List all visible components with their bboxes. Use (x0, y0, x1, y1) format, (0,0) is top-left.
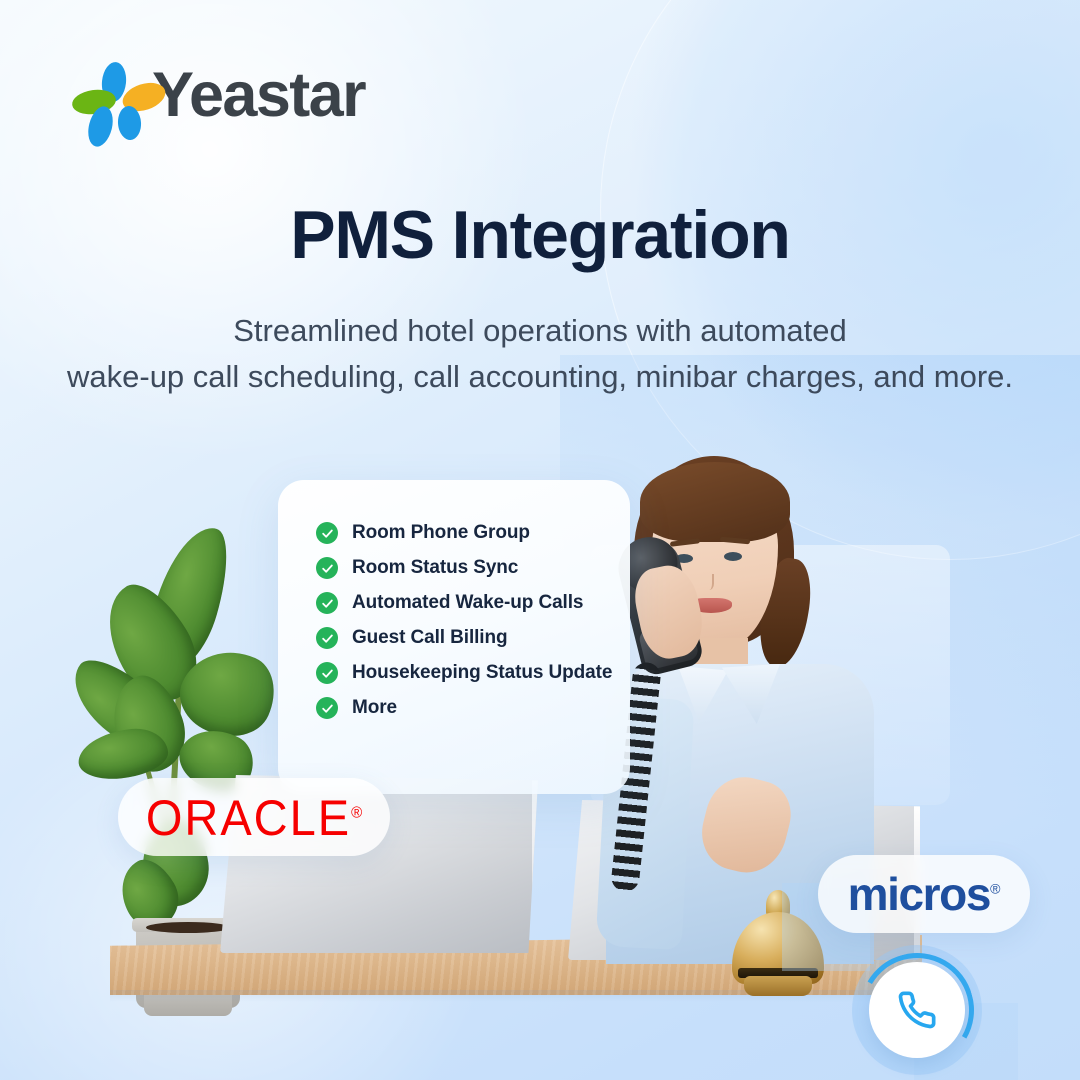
registered-mark: ® (351, 803, 362, 821)
person-eye (724, 552, 742, 561)
feature-card: Room Phone Group Room Status Sync (278, 480, 630, 794)
check-circle-icon (316, 697, 338, 719)
registered-mark: ® (990, 881, 1000, 897)
poster-canvas: Yeastar PMS Integration Streamlined hote… (0, 0, 1080, 1080)
feature-label: Guest Call Billing (352, 627, 508, 649)
person-nose (702, 574, 714, 590)
micros-wordmark: micros® (848, 871, 1001, 917)
yeastar-logo[interactable]: Yeastar (76, 62, 365, 128)
logo-wordmark: Yeastar (152, 64, 365, 127)
list-item[interactable]: Housekeeping Status Update (316, 662, 630, 684)
feature-label: Automated Wake-up Calls (352, 592, 583, 614)
plant-leaf (76, 725, 171, 782)
check-circle-icon (316, 522, 338, 544)
check-circle-icon (316, 662, 338, 684)
pot-soil (146, 922, 230, 933)
partner-badge-oracle[interactable]: ORACLE® (118, 778, 390, 856)
oracle-wordmark: ORACLE® (146, 792, 362, 842)
yeastar-flower-icon (76, 62, 138, 128)
phone-badge[interactable] (852, 945, 982, 1075)
oracle-label: ORACLE (146, 789, 351, 845)
feature-label: More (352, 697, 397, 719)
check-circle-icon (316, 592, 338, 614)
check-circle-icon (316, 557, 338, 579)
feature-label: Housekeeping Status Update (352, 662, 612, 684)
list-item[interactable]: Guest Call Billing (316, 627, 630, 649)
subtitle-line-1: Streamlined hotel operations with automa… (0, 308, 1080, 354)
list-item[interactable]: Room Phone Group (316, 522, 630, 544)
feature-label: Room Phone Group (352, 522, 530, 544)
partner-badge-micros[interactable]: micros® (818, 855, 1030, 933)
page-subtitle: Streamlined hotel operations with automa… (0, 308, 1080, 400)
check-circle-icon (316, 627, 338, 649)
list-item[interactable]: Room Status Sync (316, 557, 630, 579)
laptop-edge (532, 779, 538, 950)
list-item[interactable]: Automated Wake-up Calls (316, 592, 630, 614)
bell-base (744, 976, 812, 996)
list-item[interactable]: More (316, 697, 630, 719)
hero-scene: Room Phone Group Room Status Sync (0, 430, 1080, 1080)
subtitle-line-2: wake-up call scheduling, call accounting… (0, 354, 1080, 400)
page-title: PMS Integration (0, 196, 1080, 274)
person-hair-front (640, 462, 790, 542)
feature-label: Room Status Sync (352, 557, 518, 579)
feature-list: Room Phone Group Room Status Sync (316, 522, 630, 719)
phone-handset-icon (869, 962, 965, 1058)
micros-label: micros (848, 868, 990, 920)
